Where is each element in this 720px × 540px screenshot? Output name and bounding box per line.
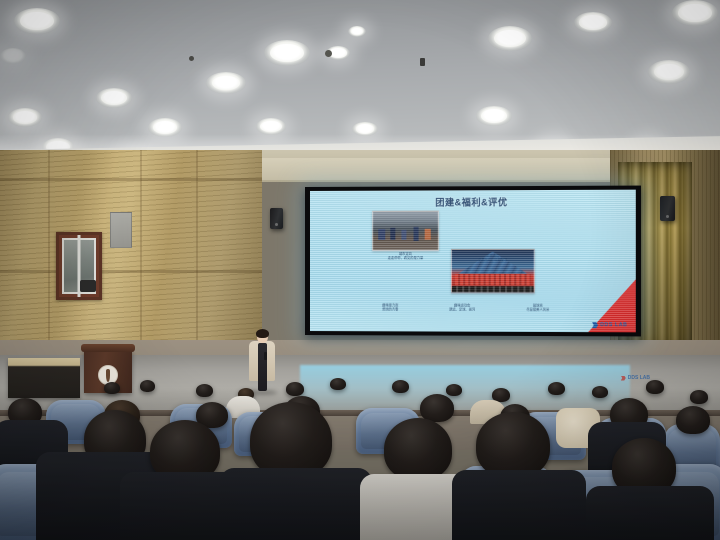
audience-member [592,386,608,398]
ceiling-light-icon [8,108,42,127]
ceiling-light-icon [488,26,532,51]
slide-surface: 团建&福利&评优 城市定向 走走停停，看见的是力量 年度大会 全员出动，精彩呈现… [310,190,636,333]
ceiling-light-icon [672,0,718,26]
sprinkler-head-icon [420,58,425,66]
ceiling-light-icon [476,106,512,126]
ceiling-light-icon [264,40,310,66]
audience-member [690,390,708,404]
auditorium-photo: 团建&福利&评优 城市定向 走走停停，看见的是力量 年度大会 全员出动，精彩呈现… [0,0,720,540]
slide-brand-logo: DDS LAB [592,322,628,328]
slide-photo-caption: 趣味运动会 跳远、足球、拔河 [431,303,494,312]
led-presentation-screen[interactable]: 团建&福利&评优 城市定向 走走停停，看见的是力量 年度大会 全员出动，精彩呈现… [305,186,641,337]
slide-title: 团建&福利&评优 [310,195,636,209]
audience-seating [0,378,720,540]
ceiling-light-icon [14,8,60,34]
audience-member [392,380,409,393]
microphone-icon [264,352,267,360]
ceiling-light-icon [206,72,246,94]
dds-lab-mark-icon [592,322,598,328]
ceiling-light-icon [96,88,132,108]
audience-member [196,384,213,397]
smoke-detector-icon [189,56,194,61]
smoke-detector-icon [325,50,332,57]
slide-photo-street-run [372,211,439,251]
audience-member [646,380,664,394]
slide-photo-caption: 趣味接力赛 燃烧的青春 [360,303,421,312]
ceiling-light-icon [352,122,378,136]
audience-member-body [586,486,714,540]
ceiling-light-icon [148,118,182,137]
audience-member [104,382,120,394]
audience-member [286,382,304,396]
audience-member [384,418,452,480]
wall-speaker-right-icon [660,196,675,221]
audience-member [446,384,462,396]
ceiling-light-icon [256,118,286,135]
audience-member [548,382,565,395]
slide-photo-caption: 城市定向 走走停停，看见的是力量 [372,252,439,261]
audience-member [476,412,550,478]
audience-member [330,378,346,390]
ceiling-light-icon [648,60,690,84]
audience-member-body [452,470,586,540]
wall-speaker-left-icon [270,208,283,229]
slide-photo-caption: 篮球赛 尽显健美人风采 [504,303,572,312]
ceiling-vent-icon [0,48,26,64]
audience-member-body [220,468,372,540]
slide-photo-caption: 年度大会 全员出动，精彩呈现 [451,254,535,263]
audience-member [676,406,710,434]
audience-member [140,380,155,392]
ceiling-light-icon [348,26,366,37]
ceiling-light-icon [574,12,612,33]
audience-member [250,402,332,478]
slide-brand-logo-text: DDS LAB [600,322,627,328]
